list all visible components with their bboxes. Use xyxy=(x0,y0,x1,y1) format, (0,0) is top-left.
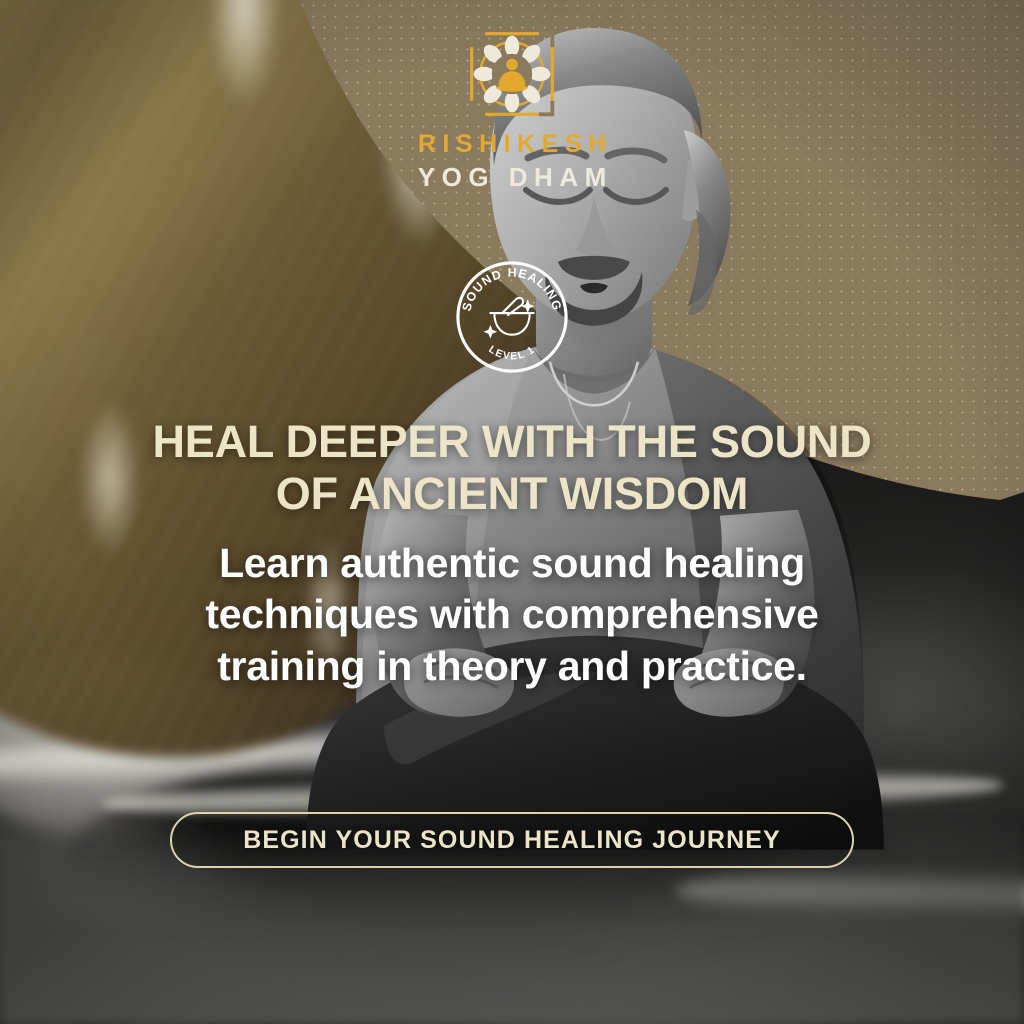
subheading: Learn authentic sound healing techniques… xyxy=(152,538,872,692)
badge-bottom-text: LEVEL 1 xyxy=(486,344,537,362)
brand-logo[interactable]: RISHIKESH YOG DHAM xyxy=(0,26,1024,190)
cta-button[interactable]: BEGIN YOUR SOUND HEALING JOURNEY xyxy=(170,812,854,868)
sound-healing-level-badge: SOUND HEALING LEVEL 1 xyxy=(453,258,571,376)
headline-line-2: OF ANCIENT WISDOM xyxy=(112,468,912,520)
promotional-poster: RISHIKESH YOG DHAM SOUND HEALING LEVEL 1 xyxy=(0,0,1024,1024)
brand-name-line-1: RISHIKESH xyxy=(411,132,612,157)
cta-button-label: BEGIN YOUR SOUND HEALING JOURNEY xyxy=(243,826,781,855)
subhead-line-3: training in theory and practice. xyxy=(152,641,872,692)
headline-line-1: HEAL DEEPER WITH THE SOUND xyxy=(112,416,912,468)
badge-arc-text: SOUND HEALING xyxy=(459,266,564,313)
lotus-meditation-mandala-icon xyxy=(464,26,560,122)
subhead-line-2: techniques with comprehensive xyxy=(152,589,872,640)
brand-name-line-2: YOG DHAM xyxy=(411,164,613,190)
page-title: HEAL DEEPER WITH THE SOUND OF ANCIENT WI… xyxy=(112,416,912,520)
subhead-line-1: Learn authentic sound healing xyxy=(152,538,872,589)
